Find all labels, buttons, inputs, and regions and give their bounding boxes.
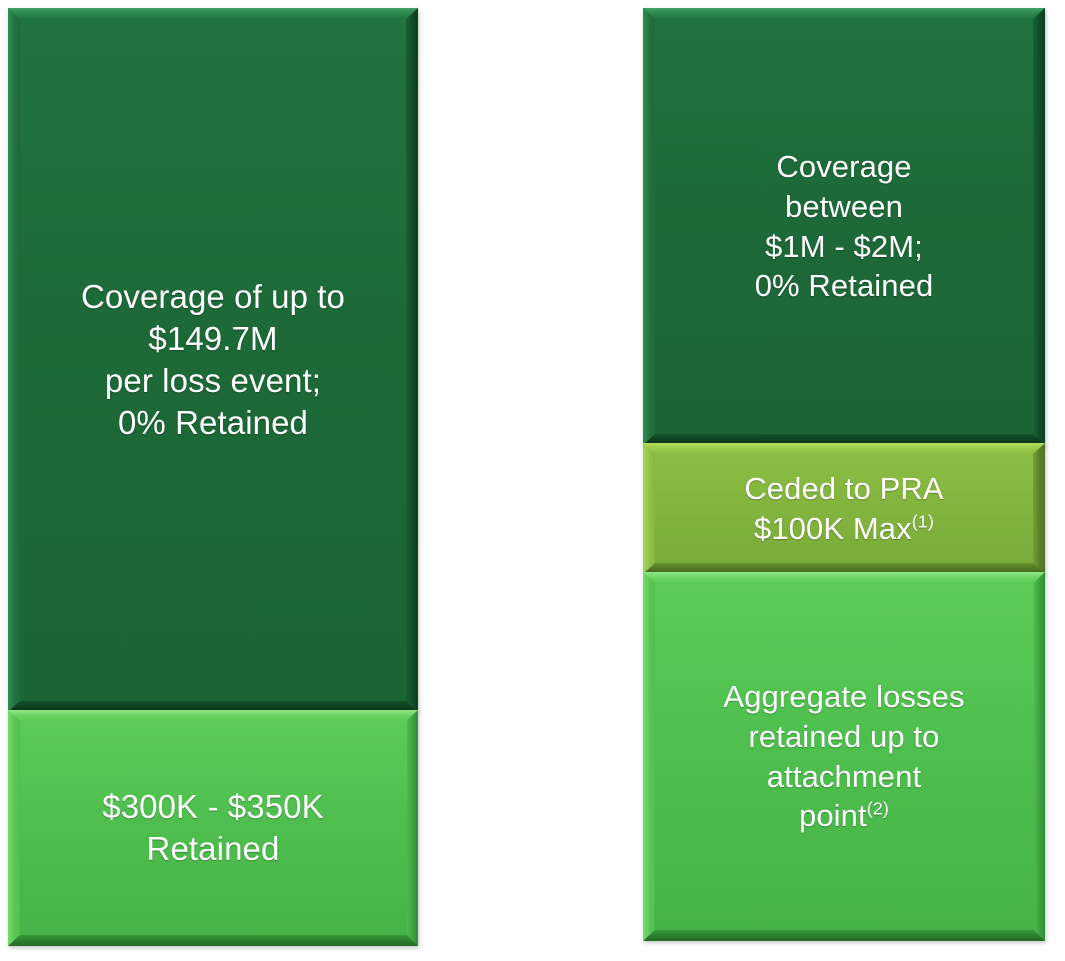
left-coverage-label: Coverage of up to $149.7M per loss event… [75,276,351,445]
block-face: $300K - $350K Retained [19,719,407,937]
diagram-canvas: Coverage of up to $149.7M per loss event… [0,0,1065,961]
right-aggregate-block[interactable]: Aggregate losses retained up to attachme… [643,572,1045,941]
footnote-marker-2: (2) [867,799,889,819]
footnote-marker-1: (1) [912,511,934,531]
bevel-right-edge [1033,443,1045,574]
bevel-right-edge [1033,8,1045,445]
right-coverage-block[interactable]: Coverage between $1M - $2M; 0% Retained [643,8,1045,445]
bevel-right-edge [406,710,418,946]
right-aggregate-text: Aggregate losses retained up to attachme… [723,679,964,833]
block-face: Ceded to PRA $100K Max(1) [654,452,1034,565]
bevel-right-edge [1033,572,1045,941]
block-face: Coverage between $1M - $2M; 0% Retained [654,17,1034,436]
left-retained-label: $300K - $350K Retained [96,786,329,870]
block-face: Aggregate losses retained up to attachme… [654,581,1034,932]
right-ceded-block[interactable]: Ceded to PRA $100K Max(1) [643,443,1045,574]
bevel-right-edge [406,8,418,712]
left-coverage-block[interactable]: Coverage of up to $149.7M per loss event… [8,8,418,712]
right-aggregate-label: Aggregate losses retained up to attachme… [717,677,970,836]
left-retained-block[interactable]: $300K - $350K Retained [8,710,418,946]
block-face: Coverage of up to $149.7M per loss event… [19,17,407,703]
right-coverage-label: Coverage between $1M - $2M; 0% Retained [749,147,940,306]
right-ceded-text: Ceded to PRA $100K Max [744,471,943,546]
right-ceded-label: Ceded to PRA $100K Max(1) [738,469,949,548]
